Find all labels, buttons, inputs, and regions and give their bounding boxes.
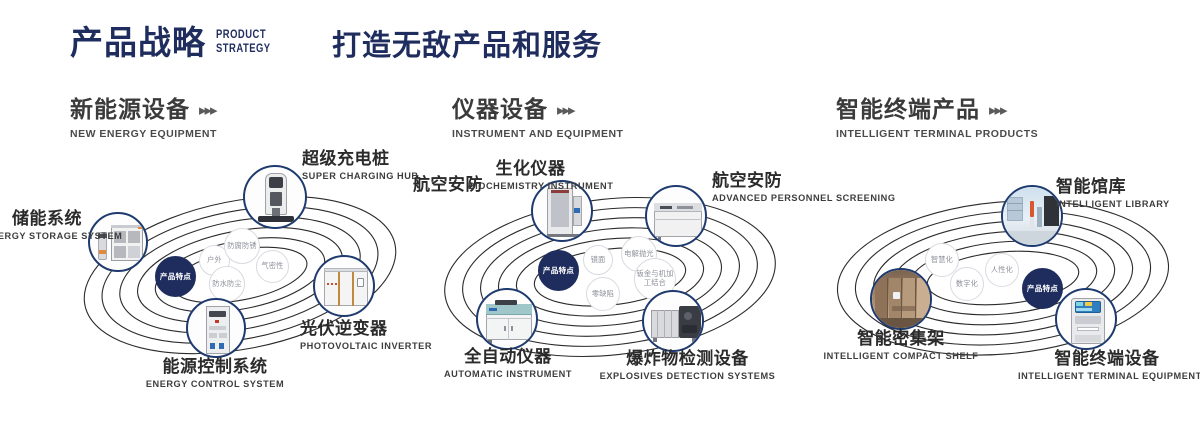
- page-header: 产品战略 PRODUCT STRATEGY: [70, 26, 283, 59]
- caption-automatic-instrument: 全自动仪器 AUTOMATIC INSTRUMENT: [423, 348, 593, 380]
- section-title-en: NEW ENERGY EQUIPMENT: [70, 128, 217, 140]
- feature-bubble-label: 产品特点: [543, 266, 574, 275]
- caption-cn: 爆炸物检测设备: [595, 350, 780, 368]
- caption-en: AUTOMATIC INSTRUMENT: [423, 369, 593, 381]
- smart-library-photo: [1003, 187, 1061, 245]
- charging-pile-photo: [245, 167, 305, 227]
- feature-bubble-label: 电解抛光: [624, 250, 654, 259]
- node-intelligent-compact-shelf[interactable]: [870, 268, 932, 330]
- caption-energy-control-system: 能源控制系统 ENERGY CONTROL SYSTEM: [120, 358, 310, 390]
- caption-en: INTELLIGENT LIBRARY: [1056, 199, 1196, 211]
- feature-bubble-label: 防水防尘: [212, 280, 242, 289]
- node-automatic-instrument[interactable]: [476, 288, 538, 350]
- compact-shelf-photo: [872, 270, 930, 328]
- feature-bubble-label: 数字化: [956, 280, 978, 289]
- feature-bubble-waterproof: 防水防尘: [209, 266, 245, 302]
- feature-bubble-label: 智慧化: [931, 256, 953, 265]
- caption-intelligent-terminal-equipment: 智能终端设备 INTELLIGENT TERMINAL EQUIPMENT: [1018, 350, 1196, 382]
- caption-en: ENERGY CONTROL SYSTEM: [120, 379, 310, 391]
- section-label: 新能源设备: [70, 98, 190, 121]
- caption-intelligent-library: 智能馆库 INTELLIGENT LIBRARY: [1056, 178, 1196, 210]
- section-title-en: INSTRUMENT AND EQUIPMENT: [452, 128, 623, 140]
- inverter-cabinet-photo: [315, 257, 373, 315]
- node-intelligent-terminal-equipment[interactable]: [1055, 288, 1117, 350]
- feature-bubble-zero-defect: 零缺陷: [586, 277, 620, 311]
- feature-bubble-label: 人性化: [991, 266, 1013, 275]
- explosives-detector-photo: [644, 292, 702, 350]
- control-cabinet-photo: [188, 300, 244, 356]
- feature-bubble-label: 户外: [207, 256, 222, 265]
- page-title-en-line2: STRATEGY: [216, 43, 271, 57]
- section-title-cn: 智能终端产品 ▸▸▸: [836, 98, 1038, 121]
- chevrons-icon: ▸▸▸: [557, 103, 574, 118]
- caption-en: BIOCHEMISTRY INSTRUMENT: [468, 181, 593, 193]
- battery-cabinet-photo: [90, 214, 146, 270]
- page-title-en-line1: PRODUCT: [216, 29, 271, 43]
- section-title-instrument: 仪器设备 ▸▸▸ INSTRUMENT AND EQUIPMENT: [452, 98, 623, 140]
- section-title-new-energy: 新能源设备 ▸▸▸ NEW ENERGY EQUIPMENT: [70, 98, 217, 140]
- chevrons-icon: ▸▸▸: [989, 103, 1006, 118]
- caption-explosives-detection-system: 爆炸物检测设备 EXPLOSIVES DETECTION SYSTEMS: [595, 350, 780, 382]
- caption-cn: 智能馆库: [1056, 178, 1196, 196]
- node-photovoltaic-inverter[interactable]: [313, 255, 375, 317]
- feature-bubble-label: 气密性: [261, 262, 283, 271]
- caption-cn: 储能系统: [0, 210, 82, 228]
- chevrons-icon: ▸▸▸: [199, 103, 216, 118]
- caption-cn: 光伏逆变器: [300, 320, 430, 338]
- feature-bubble-label: 钣金与机加工结合: [635, 270, 675, 288]
- caption-biochemistry-instrument: 生化仪器 BIOCHEMISTRY INSTRUMENT: [468, 160, 593, 192]
- section-label: 仪器设备: [452, 98, 548, 121]
- feature-bubble-label: 防腐防锈: [227, 242, 257, 251]
- feature-bubble-airtightness: 气密性: [256, 250, 289, 283]
- caption-en: INTELLIGENT COMPACT SHELF: [818, 351, 984, 363]
- feature-bubble-mirror-finish: 镜面: [583, 245, 613, 275]
- caption-energy-storage-system: 储能系统 ENERGY STORAGE SYSTEM: [0, 210, 82, 242]
- screening-machine-photo: [647, 187, 705, 245]
- page-title-cn: 产品战略: [70, 26, 206, 59]
- caption-cn: 生化仪器: [468, 160, 593, 178]
- feature-bubble-product-features: 产品特点: [538, 250, 579, 291]
- node-intelligent-library[interactable]: [1001, 185, 1063, 247]
- feature-bubble-label: 产品特点: [160, 272, 191, 281]
- caption-en: INTELLIGENT TERMINAL EQUIPMENT: [1018, 371, 1196, 383]
- section-title-en: INTELLIGENT TERMINAL PRODUCTS: [836, 128, 1038, 140]
- terminal-kiosk-photo: [1057, 290, 1115, 348]
- automatic-analyzer-photo: [478, 290, 536, 348]
- caption-cn: 超级充电桩: [302, 150, 422, 168]
- node-super-charging-hub[interactable]: [243, 165, 307, 229]
- caption-cn: 能源控制系统: [120, 358, 310, 376]
- caption-cn: 智能终端设备: [1018, 350, 1196, 368]
- page-subtitle: 打造无敌产品和服务: [332, 32, 602, 61]
- caption-en: PHOTOVOLTAIC INVERTER: [300, 341, 430, 353]
- node-energy-storage-system[interactable]: [88, 212, 148, 272]
- feature-bubble-label: 产品特点: [1027, 284, 1058, 293]
- section-title-cn: 新能源设备 ▸▸▸: [70, 98, 217, 121]
- infographic-canvas: 产品战略 PRODUCT STRATEGY 打造无敌产品和服务 新能源设备 ▸▸…: [0, 0, 1200, 422]
- feature-bubble-humanization: 人性化: [985, 253, 1019, 287]
- node-explosives-detection-system[interactable]: [642, 290, 704, 352]
- caption-intelligent-compact-shelf: 智能密集架 INTELLIGENT COMPACT SHELF: [818, 330, 984, 362]
- caption-cn: 智能密集架: [818, 330, 984, 348]
- feature-bubble-label: 镜面: [591, 256, 606, 265]
- caption-photovoltaic-inverter: 光伏逆变器 PHOTOVOLTAIC INVERTER: [300, 320, 430, 352]
- page-title-en: PRODUCT STRATEGY: [216, 29, 271, 56]
- section-title-intelligent-terminal: 智能终端产品 ▸▸▸ INTELLIGENT TERMINAL PRODUCTS: [836, 98, 1038, 140]
- feature-bubble-anticorrosion: 防腐防锈: [224, 228, 260, 264]
- caption-en: EXPLOSIVES DETECTION SYSTEMS: [595, 371, 780, 383]
- feature-bubble-product-features: 产品特点: [155, 256, 196, 297]
- caption-cn: 全自动仪器: [423, 348, 593, 366]
- feature-bubble-digitalization: 数字化: [950, 267, 984, 301]
- section-label: 智能终端产品: [836, 98, 980, 121]
- node-advanced-personnel-screening[interactable]: [645, 185, 707, 247]
- section-title-cn: 仪器设备 ▸▸▸: [452, 98, 623, 121]
- node-energy-control-system[interactable]: [186, 298, 246, 358]
- feature-bubble-label: 零缺陷: [592, 290, 614, 299]
- caption-en: ENERGY STORAGE SYSTEM: [0, 231, 82, 243]
